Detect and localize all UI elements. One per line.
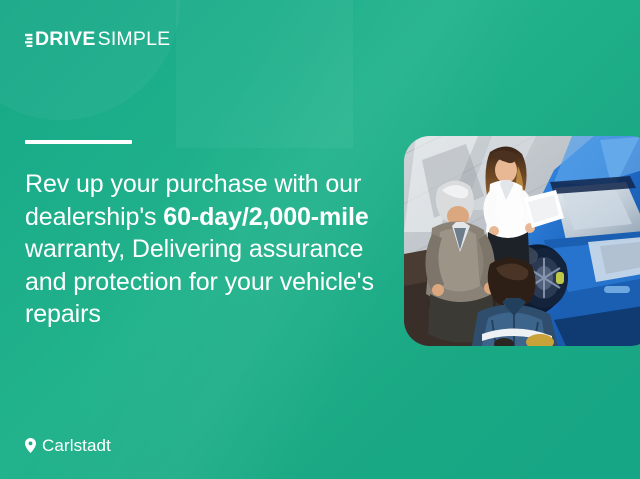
accent-divider — [25, 140, 132, 144]
dealership-photo — [404, 136, 640, 346]
location-name: Carlstadt — [42, 437, 111, 454]
dealership-photo-card — [404, 136, 640, 346]
brand-name-bold: DRIVE — [35, 28, 96, 50]
location-badge[interactable]: Carlstadt — [25, 434, 111, 456]
background-circle-shape — [0, 0, 180, 120]
brand-logo[interactable]: DRIVESIMPLE — [25, 28, 170, 52]
speed-chevron-icon — [25, 33, 34, 48]
headline-part-2: warranty, Delivering assurance and prote… — [25, 235, 374, 328]
brand-name-light: SIMPLE — [98, 28, 171, 50]
headline-highlight: 60-day/2,000-mile — [163, 203, 368, 231]
headline-text: Rev up your purchase with our dealership… — [25, 168, 395, 331]
background-square-shape — [176, 0, 353, 148]
promo-banner: DRIVESIMPLE Rev up your purchase with ou… — [0, 0, 640, 479]
brand-logo-wordmark: DRIVESIMPLE — [35, 30, 170, 50]
map-pin-icon — [25, 438, 36, 453]
